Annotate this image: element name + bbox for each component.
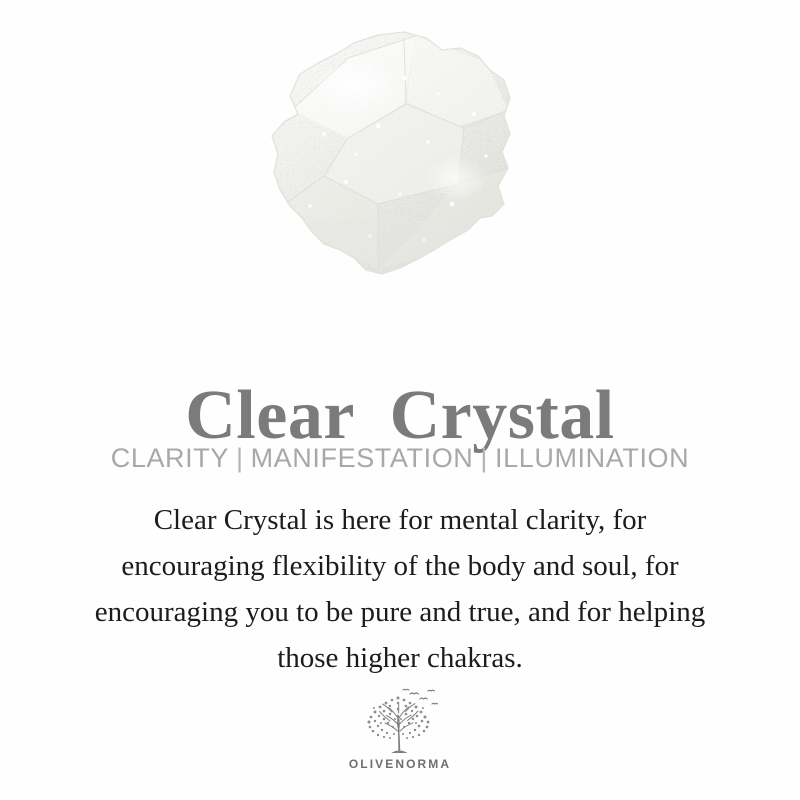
brand-name: OLIVENORMA	[349, 757, 451, 771]
product-info-card: Clear Crystal CLARITY|MANIFESTATION|ILLU…	[0, 0, 800, 800]
product-title: Clear Crystal	[0, 381, 800, 451]
description-line: encouraging you to be pure and true, and…	[40, 589, 760, 635]
keyword-clarity: CLARITY	[111, 443, 229, 473]
product-description: Clear Crystal is here for mental clarity…	[40, 497, 760, 681]
keyword-separator-2: |	[473, 443, 495, 473]
clear-quartz-crystal-image	[228, 18, 548, 308]
description-line: encouraging flexibility of the body and …	[40, 543, 760, 589]
tree-logo-icon	[354, 686, 446, 756]
description-line: those higher chakras.	[40, 635, 760, 681]
description-line: Clear Crystal is here for mental clarity…	[40, 497, 760, 543]
brand-logo: OLIVENORMA	[0, 686, 800, 771]
keyword-separator-1: |	[229, 443, 251, 473]
keyword-illumination: ILLUMINATION	[495, 443, 689, 473]
product-image-container	[0, 0, 800, 320]
keyword-manifestation: MANIFESTATION	[251, 443, 474, 473]
product-keywords: CLARITY|MANIFESTATION|ILLUMINATION	[0, 442, 800, 474]
